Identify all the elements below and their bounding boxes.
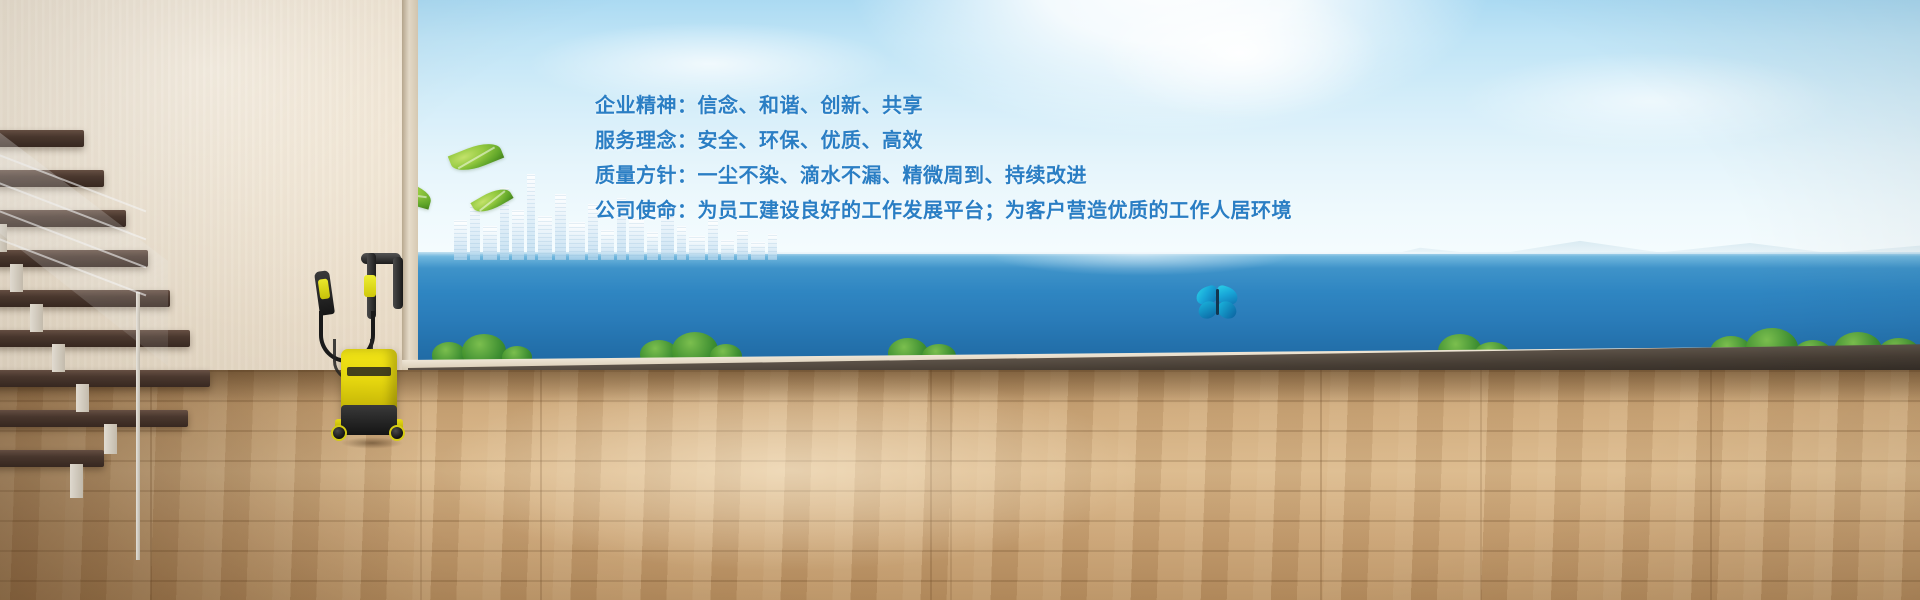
glass-railing xyxy=(0,116,168,366)
butterfly-icon xyxy=(1196,285,1240,325)
washer-trigger-yellow xyxy=(364,275,376,297)
washer-wheel-right xyxy=(389,425,405,441)
mural-frame: 企业精神：信念、和谐、创新、共享 服务理念：安全、环保、优质、高效 质量方针：一… xyxy=(410,0,1920,368)
railing-post xyxy=(136,292,140,560)
floor-wall-shadow xyxy=(0,370,1920,404)
wall-mural: 企业精神：信念、和谐、创新、共享 服务理念：安全、环保、优质、高效 质量方针：一… xyxy=(410,0,1920,368)
sea-sun-glare xyxy=(930,254,1350,314)
mural-slogan-block: 企业精神：信念、和谐、创新、共享 服务理念：安全、环保、优质、高效 质量方针：一… xyxy=(595,88,1292,228)
cloud-right xyxy=(1390,26,1910,176)
hero-banner: 企业精神：信念、和谐、创新、共享 服务理念：安全、环保、优质、高效 质量方针：一… xyxy=(0,0,1920,600)
slogan-line-4: 公司使命：为员工建设良好的工作发展平台；为客户营造优质的工作人居环境 xyxy=(595,193,1292,228)
staircase xyxy=(0,120,194,500)
pressure-washer xyxy=(305,253,425,460)
washer-wheel-left xyxy=(331,425,347,441)
floor-highlight xyxy=(300,370,1280,600)
washer-label xyxy=(347,367,391,376)
wood-floor xyxy=(0,370,1920,600)
washer-handle-bar-2 xyxy=(393,257,403,309)
slogan-line-3: 质量方针：一尘不染、滴水不漏、精微周到、持续改进 xyxy=(595,158,1292,193)
slogan-line-1: 企业精神：信念、和谐、创新、共享 xyxy=(595,88,1292,123)
slogan-line-2: 服务理念：安全、环保、优质、高效 xyxy=(595,123,1292,158)
